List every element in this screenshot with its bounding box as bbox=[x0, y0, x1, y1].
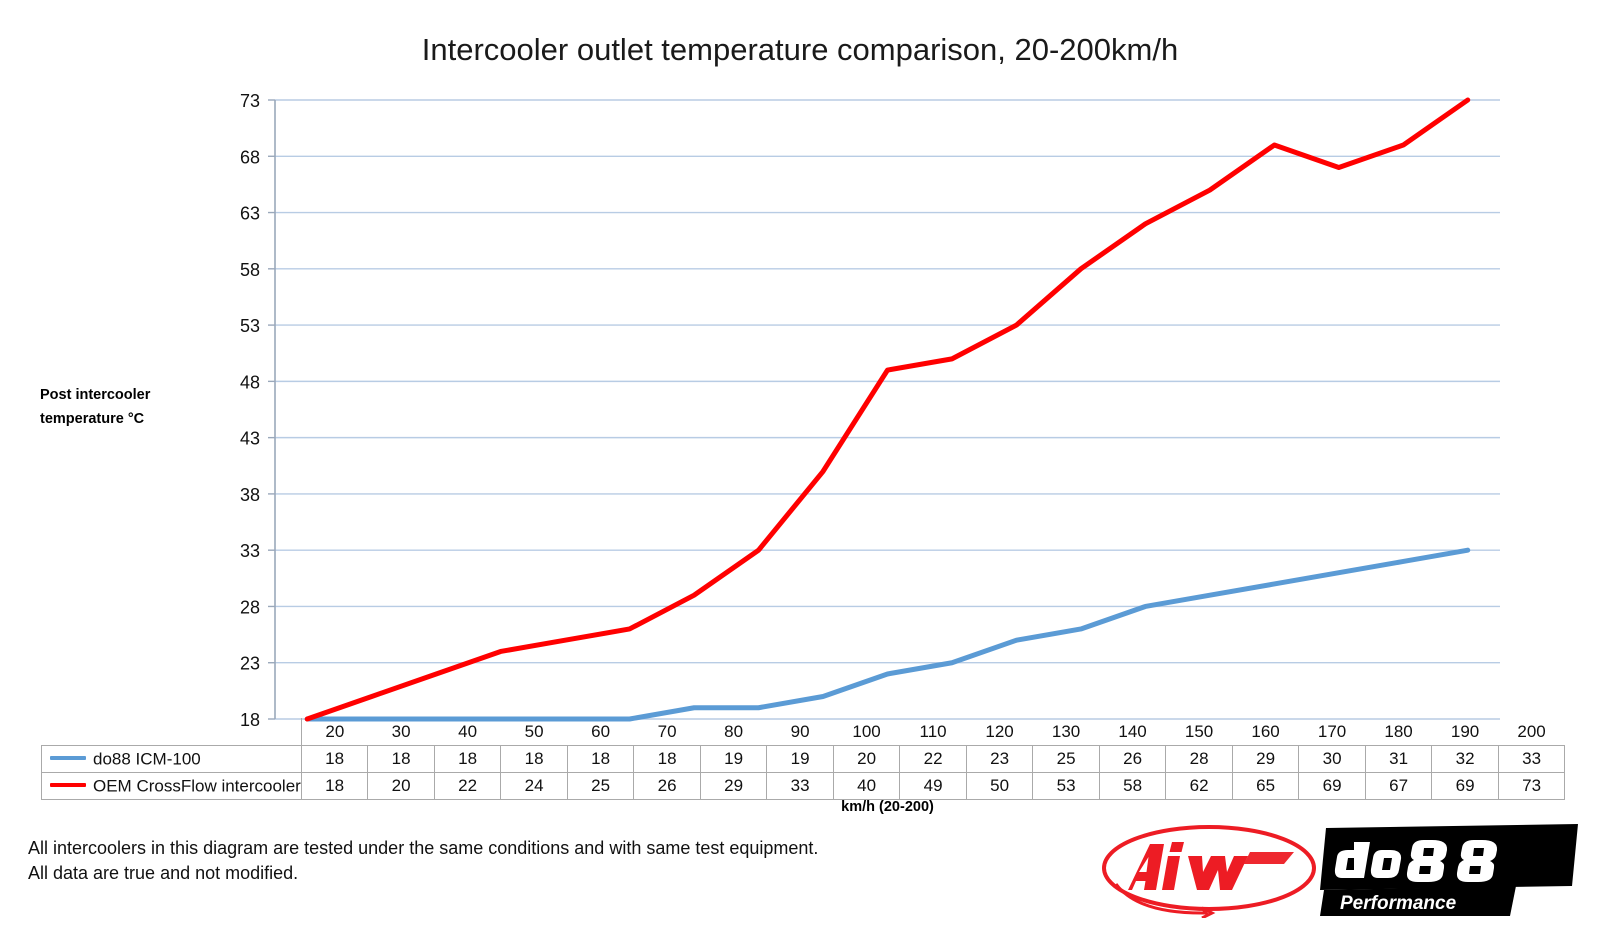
data-cell: 26 bbox=[1099, 746, 1166, 773]
table-row: OEM CrossFlow intercooler182022242526293… bbox=[42, 773, 1565, 800]
data-cell: 49 bbox=[900, 773, 967, 800]
data-cell: 29 bbox=[700, 773, 767, 800]
x-category-header: 200 bbox=[1498, 718, 1565, 746]
data-cell: 22 bbox=[434, 773, 501, 800]
y-tick-label: 73 bbox=[240, 91, 260, 111]
x-category-header: 150 bbox=[1166, 718, 1233, 746]
data-cell: 28 bbox=[1166, 746, 1233, 773]
data-cell: 24 bbox=[501, 773, 568, 800]
legend-label: do88 ICM-100 bbox=[93, 749, 201, 768]
data-cell: 58 bbox=[1099, 773, 1166, 800]
y-tick-label: 48 bbox=[240, 372, 260, 392]
table-row: do88 ICM-1001818181818181919202223252628… bbox=[42, 746, 1565, 773]
data-cell: 53 bbox=[1033, 773, 1100, 800]
y-tick-label: 68 bbox=[240, 147, 260, 167]
data-cell: 33 bbox=[1498, 746, 1565, 773]
legend-entry[interactable]: do88 ICM-100 bbox=[42, 746, 302, 773]
data-cell: 18 bbox=[567, 746, 634, 773]
x-category-header: 110 bbox=[900, 718, 967, 746]
data-cell: 18 bbox=[501, 746, 568, 773]
legend-color-swatch bbox=[50, 756, 86, 760]
series-line bbox=[307, 550, 1468, 719]
do88-logo-subtitle: Performance bbox=[1340, 893, 1457, 914]
y-tick-label: 58 bbox=[240, 260, 260, 280]
data-cell: 25 bbox=[567, 773, 634, 800]
footnote-line-2: All data are true and not modified. bbox=[28, 861, 818, 886]
x-category-header: 70 bbox=[634, 718, 701, 746]
legend-entry[interactable]: OEM CrossFlow intercooler bbox=[42, 773, 302, 800]
data-cell: 25 bbox=[1033, 746, 1100, 773]
x-category-header: 20 bbox=[301, 718, 368, 746]
data-cell: 22 bbox=[900, 746, 967, 773]
table-corner-cell bbox=[42, 718, 302, 746]
y-tick-label: 53 bbox=[240, 316, 260, 336]
data-cell: 20 bbox=[368, 773, 435, 800]
x-category-header: 140 bbox=[1099, 718, 1166, 746]
x-category-header: 80 bbox=[700, 718, 767, 746]
legend-label: OEM CrossFlow intercooler bbox=[93, 776, 301, 795]
y-tick-label: 23 bbox=[240, 654, 260, 674]
data-cell: 19 bbox=[767, 746, 834, 773]
y-tick-label: 28 bbox=[240, 597, 260, 617]
data-cell: 31 bbox=[1365, 746, 1432, 773]
data-cell: 33 bbox=[767, 773, 834, 800]
x-category-header: 30 bbox=[368, 718, 435, 746]
table-header-row: 2030405060708090100110120130140150160170… bbox=[42, 718, 1565, 746]
data-cell: 29 bbox=[1232, 746, 1299, 773]
data-cell: 30 bbox=[1299, 746, 1366, 773]
footnote: All intercoolers in this diagram are tes… bbox=[28, 836, 818, 886]
x-category-header: 90 bbox=[767, 718, 834, 746]
y-tick-label: 38 bbox=[240, 485, 260, 505]
legend-color-swatch bbox=[50, 783, 86, 787]
data-cell: 62 bbox=[1166, 773, 1233, 800]
do88-logo: Performance bbox=[1320, 824, 1578, 916]
data-cell: 19 bbox=[700, 746, 767, 773]
data-cell: 18 bbox=[634, 746, 701, 773]
data-cell: 20 bbox=[833, 746, 900, 773]
data-cell: 23 bbox=[966, 746, 1033, 773]
data-cell: 67 bbox=[1365, 773, 1432, 800]
x-category-header: 130 bbox=[1033, 718, 1100, 746]
data-cell: 69 bbox=[1299, 773, 1366, 800]
y-tick-label: 63 bbox=[240, 204, 260, 224]
x-category-header: 60 bbox=[567, 718, 634, 746]
data-cell: 18 bbox=[368, 746, 435, 773]
y-tick-label: 43 bbox=[240, 429, 260, 449]
data-cell: 40 bbox=[833, 773, 900, 800]
series-line bbox=[307, 100, 1468, 719]
data-table: 2030405060708090100110120130140150160170… bbox=[41, 718, 1565, 800]
data-cell: 18 bbox=[301, 746, 368, 773]
x-category-header: 190 bbox=[1432, 718, 1499, 746]
data-cell: 26 bbox=[634, 773, 701, 800]
x-category-header: 120 bbox=[966, 718, 1033, 746]
x-category-header: 100 bbox=[833, 718, 900, 746]
x-category-header: 180 bbox=[1365, 718, 1432, 746]
x-category-header: 160 bbox=[1232, 718, 1299, 746]
aim-logo bbox=[1098, 818, 1320, 918]
data-cell: 50 bbox=[966, 773, 1033, 800]
x-axis-title: km/h (20-200) bbox=[275, 799, 1500, 815]
data-cell: 18 bbox=[301, 773, 368, 800]
data-cell: 69 bbox=[1432, 773, 1499, 800]
x-category-header: 50 bbox=[501, 718, 568, 746]
data-cell: 65 bbox=[1232, 773, 1299, 800]
data-cell: 18 bbox=[434, 746, 501, 773]
x-category-header: 170 bbox=[1299, 718, 1366, 746]
data-cell: 73 bbox=[1498, 773, 1565, 800]
y-tick-label: 33 bbox=[240, 541, 260, 561]
x-category-header: 40 bbox=[434, 718, 501, 746]
data-cell: 32 bbox=[1432, 746, 1499, 773]
footnote-line-1: All intercoolers in this diagram are tes… bbox=[28, 836, 818, 861]
